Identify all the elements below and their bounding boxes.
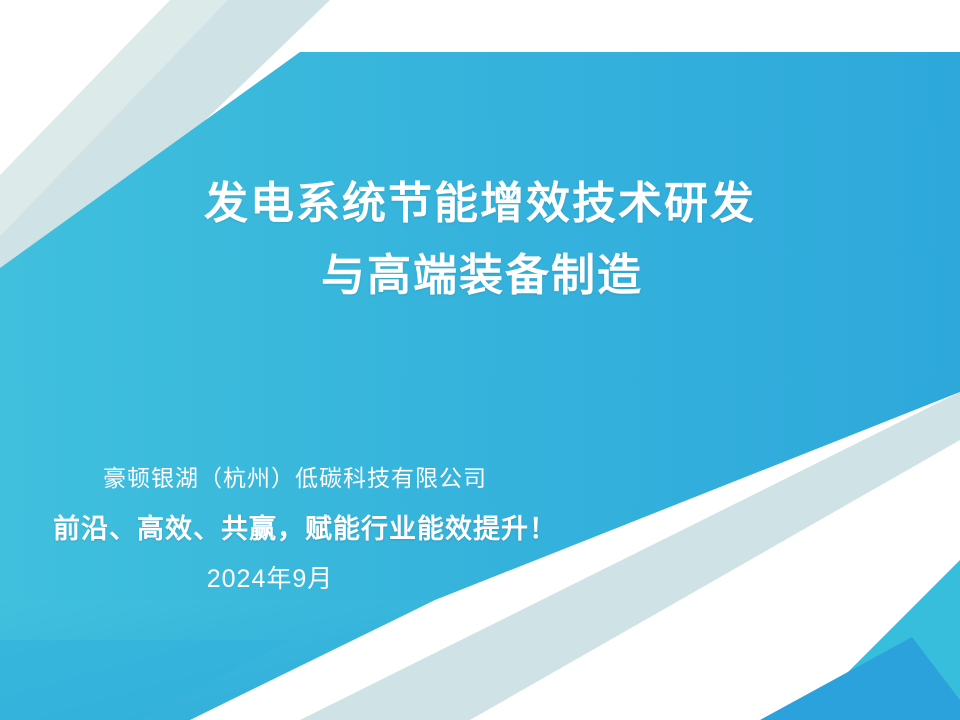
title-line-2: 与高端装备制造 [0, 240, 960, 312]
slide-title: 发电系统节能增效技术研发 与高端装备制造 [0, 168, 960, 312]
slide-text-layer: 发电系统节能增效技术研发 与高端装备制造 豪顿银湖（杭州）低碳科技有限公司 前沿… [0, 0, 960, 720]
tagline-block: 前沿、高效、共赢，赋能行业能效提升！ [0, 510, 610, 548]
presentation-date: 2024年9月 [0, 562, 540, 596]
company-name: 豪顿银湖（杭州）低碳科技有限公司 [0, 462, 590, 494]
tagline: 前沿、高效、共赢，赋能行业能效提升！ [0, 510, 610, 548]
company-name-block: 豪顿银湖（杭州）低碳科技有限公司 [0, 462, 590, 494]
presentation-slide: 发电系统节能增效技术研发 与高端装备制造 豪顿银湖（杭州）低碳科技有限公司 前沿… [0, 0, 960, 720]
date-block: 2024年9月 [0, 562, 540, 596]
title-line-1: 发电系统节能增效技术研发 [0, 168, 960, 240]
